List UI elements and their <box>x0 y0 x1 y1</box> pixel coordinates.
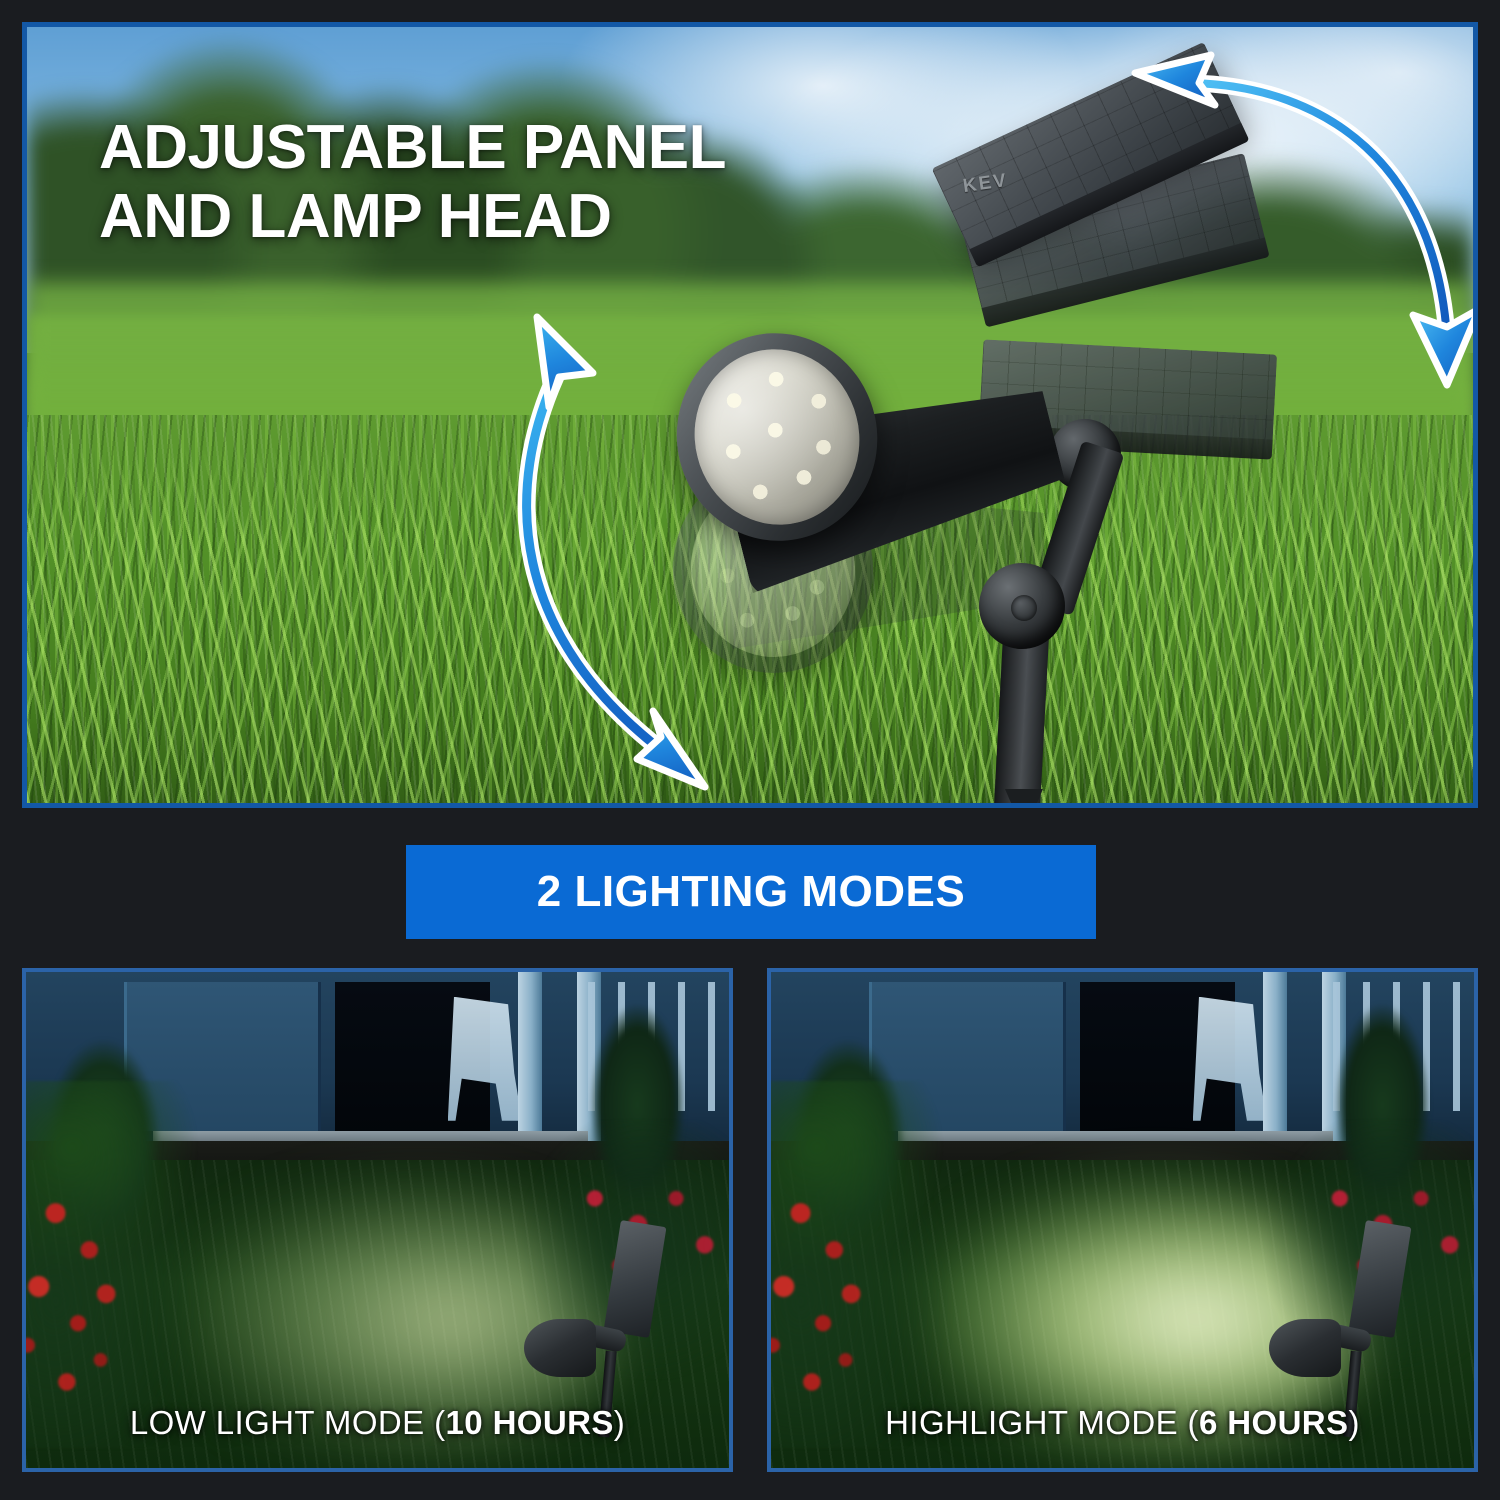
mini-lamp-head <box>524 1319 596 1377</box>
hero-panel: ADJUSTABLE PANEL AND LAMP HEAD <box>22 22 1478 808</box>
banner-label: 2 LIGHTING MODES <box>537 867 965 917</box>
mini-lamp-head <box>1269 1319 1341 1377</box>
red-flower-bush-left <box>22 1081 286 1448</box>
lamp-head-tilt-arrow <box>497 307 777 807</box>
caption-suffix-low: ) <box>614 1404 625 1441</box>
red-flower-bush-left <box>767 1081 1031 1448</box>
mode-card-low-light: LOW LIGHT MODE (10 HOURS) <box>22 968 733 1472</box>
mini-solar-panel <box>1348 1220 1411 1338</box>
caption-prefix-high: HIGHLIGHT MODE ( <box>885 1404 1199 1441</box>
ground-stake-tip <box>1005 789 1043 808</box>
caption-prefix-low: LOW LIGHT MODE ( <box>130 1404 446 1441</box>
mini-solar-panel <box>603 1220 666 1338</box>
page-title: ADJUSTABLE PANEL AND LAMP HEAD <box>99 113 726 252</box>
mode-card-highlight: HIGHLIGHT MODE (6 HOURS) <box>767 968 1478 1472</box>
caption-low-light: LOW LIGHT MODE (10 HOURS) <box>26 1404 729 1442</box>
night-scene-highlight <box>771 972 1474 1468</box>
caption-hours-low: 10 HOURS <box>446 1404 614 1441</box>
lighting-modes-banner: 2 LIGHTING MODES <box>406 845 1096 939</box>
mode-comparison-row: LOW LIGHT MODE (10 HOURS) <box>22 968 1478 1472</box>
product-infographic: ADJUSTABLE PANEL AND LAMP HEAD <box>0 0 1500 1500</box>
solar-panel-tilt-arrow <box>1117 45 1478 395</box>
caption-highlight: HIGHLIGHT MODE (6 HOURS) <box>771 1404 1474 1442</box>
caption-suffix-high: ) <box>1348 1404 1359 1441</box>
caption-hours-high: 6 HOURS <box>1199 1404 1349 1441</box>
joint-tightening-screw <box>1011 595 1037 621</box>
night-scene-low-light <box>26 972 729 1468</box>
